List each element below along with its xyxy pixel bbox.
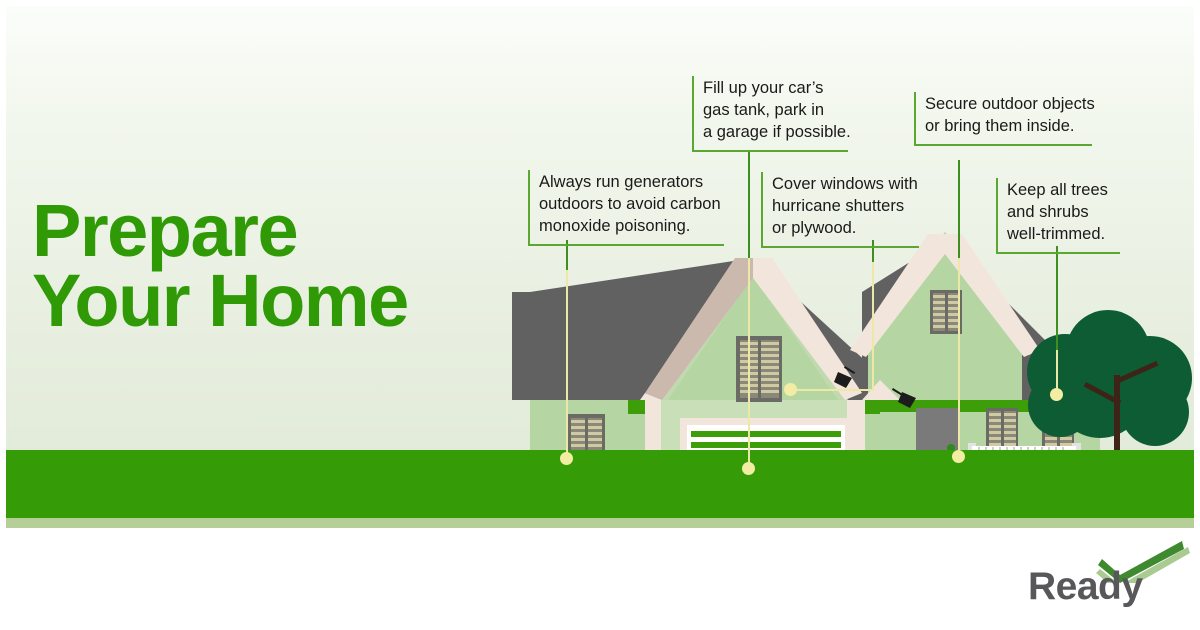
leader-dot-trees xyxy=(1050,388,1063,401)
callout-line: Always run generators xyxy=(539,172,724,194)
callout-run-generators-outdoors: Always run generators outdoors to avoid … xyxy=(528,170,724,246)
callout-line: Cover windows with xyxy=(772,174,919,196)
leader-line-cover xyxy=(872,262,874,390)
leader-line-gas-tank xyxy=(748,258,750,470)
title-line-2: Your Home xyxy=(32,266,552,336)
callout-fill-gas-tank: Fill up your car’s gas tank, park in a g… xyxy=(692,76,848,152)
callout-line: or bring them inside. xyxy=(925,116,1092,138)
callout-line: well-trimmed. xyxy=(1007,224,1120,246)
page-title: Prepare Your Home xyxy=(32,196,552,337)
leader-line-generator xyxy=(566,270,568,460)
leader-line-gas-tank-green xyxy=(748,150,750,260)
callout-line: and shrubs xyxy=(1007,202,1120,224)
ready-wordmark: Ready xyxy=(1028,565,1143,609)
lawn-band xyxy=(6,450,1194,518)
leader-dot-gas-tank xyxy=(742,462,755,475)
infographic-poster: Prepare Your Home Fill up your car’s gas… xyxy=(0,0,1200,630)
leader-line-secure-green xyxy=(958,160,960,260)
leader-dot-cover xyxy=(784,383,797,396)
shutter-bench-left xyxy=(986,408,1018,452)
callout-cover-windows: Cover windows with hurricane shutters or… xyxy=(761,172,919,248)
callout-line: or plywood. xyxy=(772,218,919,240)
leader-line-secure xyxy=(958,258,960,458)
shutter-gable xyxy=(736,336,782,402)
leader-dot-generator xyxy=(560,452,573,465)
leader-dot-secure xyxy=(952,450,965,463)
callout-line: hurricane shutters xyxy=(772,196,919,218)
callout-line: outdoors to avoid carbon xyxy=(539,194,724,216)
callout-line: Secure outdoor objects xyxy=(925,94,1092,116)
callout-line: a garage if possible. xyxy=(703,122,848,144)
ready-logo: Ready xyxy=(1028,543,1188,613)
callout-line: gas tank, park in xyxy=(703,100,848,122)
lawn-edge-band xyxy=(6,518,1194,528)
callout-line: monoxide poisoning. xyxy=(539,216,724,238)
callout-secure-outdoor-objects: Secure outdoor objects or bring them ins… xyxy=(914,92,1092,146)
leader-line-trees-green xyxy=(1056,246,1058,352)
callout-line: Fill up your car’s xyxy=(703,78,848,100)
callout-line: Keep all trees xyxy=(1007,180,1120,202)
callout-keep-trees-trimmed: Keep all trees and shrubs well-trimmed. xyxy=(996,178,1120,254)
leader-line-cover-horizontal xyxy=(790,389,874,391)
